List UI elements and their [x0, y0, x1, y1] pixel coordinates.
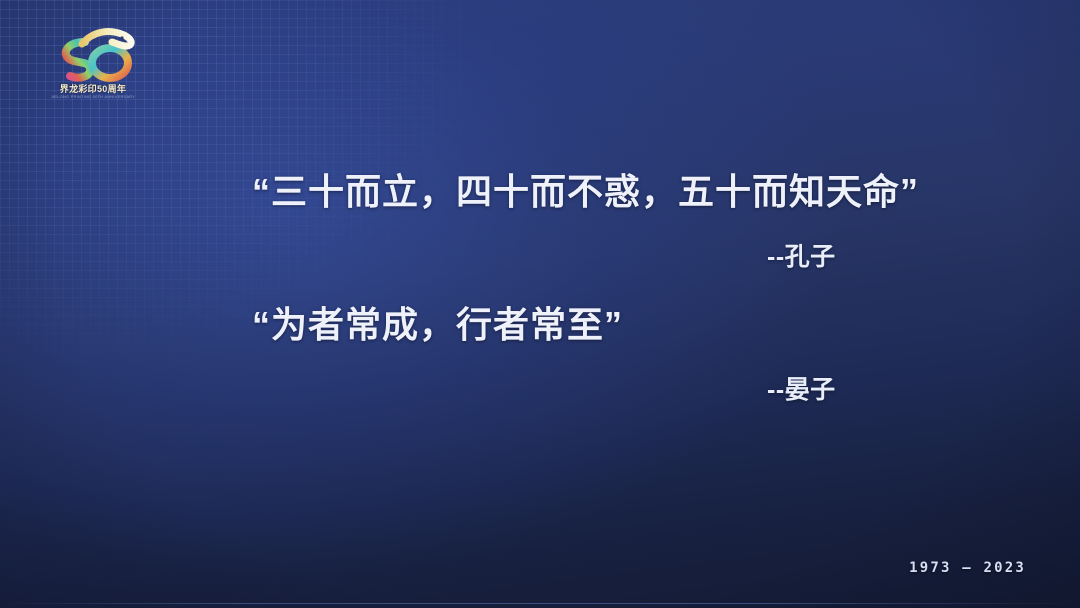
anniversary-logo: 界龙彩印50周年 JIELONG PRINTING 50TH ANNIVERSA… [38, 22, 148, 104]
bottom-accent-line [0, 603, 1080, 604]
dragon-fifty-icon [38, 22, 148, 86]
quote-text-yanzi: “为者常成，行者常至” [252, 296, 623, 348]
logo-subtitle: JIELONG PRINTING 50TH ANNIVERSARY [38, 94, 148, 99]
quote-text-confucius: “三十而立，四十而不惑，五十而知天命” [252, 163, 919, 215]
logo-title: 界龙彩印50周年 [38, 82, 148, 95]
quote-attribution-confucius: --孔子 [767, 237, 836, 273]
presentation-slide: 界龙彩印50周年 JIELONG PRINTING 50TH ANNIVERSA… [0, 0, 1080, 608]
footer-year-range: 1973 — 2023 [909, 560, 1026, 576]
quote-attribution-yanzi: --晏子 [767, 370, 836, 406]
